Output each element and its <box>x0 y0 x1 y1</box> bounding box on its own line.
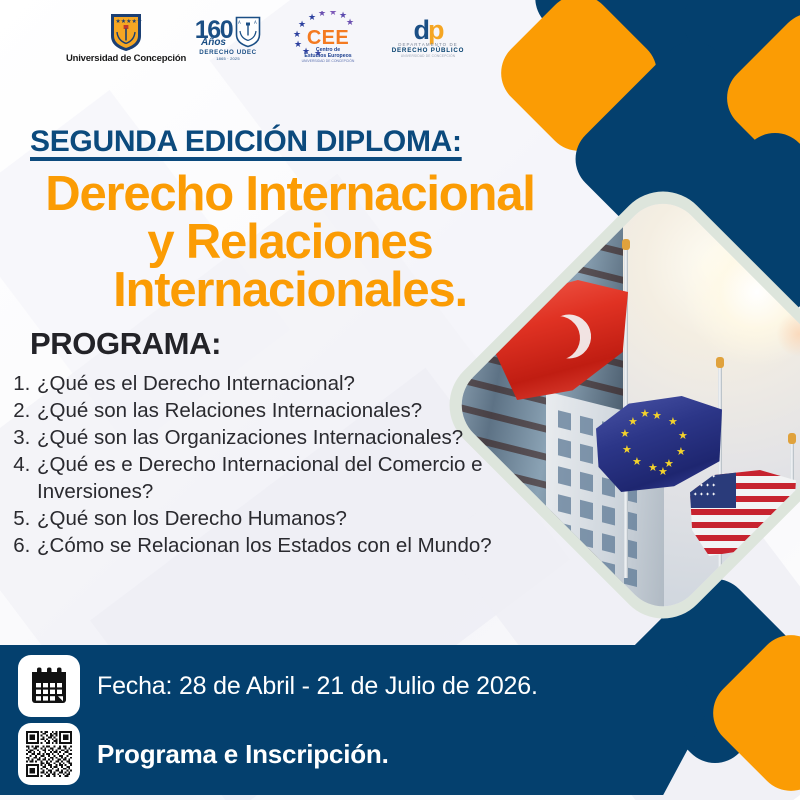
programa-heading: PROGRAMA: <box>30 326 221 362</box>
logo-cee-line3: UNIVERSIDAD DE CONCEPCIÓN <box>302 59 355 63</box>
logo-160-anos-derecho-udec: 160 Años A A DERECHO UDEC 1865 · 2025 <box>178 16 278 61</box>
svg-text:★: ★ <box>294 40 302 50</box>
svg-text:★: ★ <box>318 11 326 19</box>
programa-item: ¿Qué son los Derecho Humanos? <box>36 505 506 532</box>
logo-dp-line3: UNIVERSIDAD DE CONCEPCIÓN <box>401 54 456 58</box>
flag-usa <box>690 470 796 556</box>
svg-text:A: A <box>254 20 257 25</box>
flag-canada: 🍁 <box>772 510 800 586</box>
logo-udec-label: Universidad de Concepción <box>66 53 186 64</box>
eu-stars-icon: ★ ★ ★ ★ ★ ★ ★ ★ ★ ★ <box>286 11 370 57</box>
logo-centro-estudios-europeos: ★ ★ ★ ★ ★ ★ ★ ★ ★ ★ CEE Centro de Estudi… <box>282 13 374 64</box>
programa-item: ¿Qué son las Organizaciones Internaciona… <box>36 424 506 451</box>
svg-text:★: ★ <box>346 18 354 28</box>
svg-text:★: ★ <box>308 13 316 23</box>
banner-date-row: Fecha: 28 de Abril - 21 de Julio de 2026… <box>18 655 538 717</box>
svg-text:★: ★ <box>298 20 306 30</box>
logo-departamento-derecho-publico: dp DEPARTAMENTO DE DERECHO PÚBLICO UNIVE… <box>378 18 478 58</box>
date-label: Fecha: 28 de Abril - 21 de Julio de 2026… <box>97 672 538 701</box>
qr-code-icon[interactable] <box>18 723 80 785</box>
svg-text:A: A <box>238 20 241 25</box>
programa-item: ¿Qué es el Derecho Internacional? <box>36 370 506 397</box>
title-line-2: y Relaciones <box>0 218 580 266</box>
programa-item: ¿Qué es e Derecho Internacional del Come… <box>36 451 506 505</box>
udec-shield-icon: ★★★★★ <box>109 12 143 52</box>
flag-pole <box>790 442 794 612</box>
svg-text:★★★★★: ★★★★★ <box>115 18 142 25</box>
calendar-icon <box>18 655 80 717</box>
programa-item: ¿Qué son las Relaciones Internacionales? <box>36 397 506 424</box>
svg-text:★: ★ <box>329 11 337 18</box>
logo-universidad-de-concepcion: ★★★★★ Universidad de Concepción <box>78 12 174 64</box>
title-line-1: Derecho Internacional <box>0 170 580 218</box>
svg-text:★: ★ <box>302 47 310 57</box>
logo-160-crest-caption: 1865 · 2025 <box>216 56 240 61</box>
udec-crest-icon: A A <box>235 16 261 48</box>
inscription-label[interactable]: Programa e Inscripción. <box>97 739 389 770</box>
logo-bar: ★★★★★ Universidad de Concepción 160 Años… <box>0 0 520 76</box>
logo-160-anos-label: Años <box>201 38 226 48</box>
svg-text:★: ★ <box>314 49 322 57</box>
title-line-3: Internacionales. <box>0 266 580 314</box>
poster-canvas: ★★★★★ Universidad de Concepción 160 Años… <box>0 0 800 800</box>
logo-160-sub: DERECHO UDEC <box>199 49 256 56</box>
programa-item: ¿Cómo se Relacionan los Estados con el M… <box>36 532 506 559</box>
banner-inscription-row[interactable]: Programa e Inscripción. <box>18 723 389 785</box>
programa-list: ¿Qué es el Derecho Internacional? ¿Qué s… <box>14 370 506 559</box>
page-title: Derecho Internacional y Relaciones Inter… <box>0 170 580 314</box>
dp-monogram-icon: dp <box>414 18 443 42</box>
svg-text:★: ★ <box>293 30 301 40</box>
kicker-heading: SEGUNDA EDICIÓN DIPLOMA: <box>30 125 462 159</box>
